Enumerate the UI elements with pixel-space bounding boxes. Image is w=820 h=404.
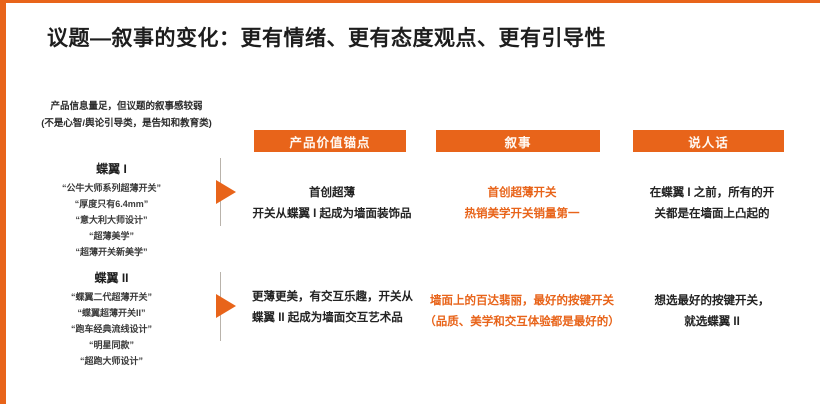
cell-line: 想选最好的按键开关， (628, 291, 796, 312)
product-quote-list: “蝶翼二代超薄开关” “蝶翼超薄开关II” “跑车经典流线设计” “明星同款” … (24, 289, 199, 369)
cell-line: 更薄更美，有交互乐趣，开关从蝶翼 II 起成为墙面交互艺术品 (252, 287, 418, 330)
column-header-product-value-anchor: 产品价值锚点 (254, 130, 406, 152)
list-item: “超跑大师设计” (24, 353, 199, 369)
list-item: “意大利大师设计” (24, 212, 199, 228)
list-item: “蝶翼超薄开关II” (24, 305, 199, 321)
cell-product-value-anchor: 更薄更美，有交互乐趣，开关从蝶翼 II 起成为墙面交互艺术品 (252, 287, 418, 330)
list-item: “跑车经典流线设计” (24, 321, 199, 337)
column-header-narrative: 叙事 (436, 130, 600, 152)
page-title: 议题—叙事的变化：更有情绪、更有态度观点、更有引导性 (47, 22, 606, 52)
intro-caption: 产品信息量足，但议题的叙事感较弱 (不是心智/舆论引导类，是告知和教育类) (24, 99, 229, 132)
product-quote-list: “公牛大师系列超薄开关” “厚度只有6.4mm” “意大利大师设计” “超薄美学… (24, 180, 199, 260)
cell-line: 墙面上的百达翡丽，最好的按键开关 (424, 291, 620, 312)
table-row: 蝶翼 II “蝶翼二代超薄开关” “蝶翼超薄开关II” “跑车经典流线设计” “… (0, 265, 820, 375)
cell-narrative: 墙面上的百达翡丽，最好的按键开关 （品质、美学和交互体验都是最好的） (424, 291, 620, 334)
cell-plain-speech: 想选最好的按键开关， 就选蝶翼 II (628, 291, 796, 334)
arrow-right-icon (216, 180, 236, 204)
slide-canvas: 议题—叙事的变化：更有情绪、更有态度观点、更有引导性 产品信息量足，但议题的叙事… (0, 0, 820, 404)
cell-line: 在蝶翼 I 之前，所有的开 (628, 183, 796, 204)
list-item: “厚度只有6.4mm” (24, 196, 199, 212)
arrow-right-icon (216, 294, 236, 318)
column-header-plain-speech: 说人话 (633, 130, 784, 152)
cell-line: 关都是在墙面上凸起的 (628, 204, 796, 225)
cell-line: 热销美学开关销量第一 (424, 204, 620, 225)
list-item: “明星同款” (24, 337, 199, 353)
intro-line-1: 产品信息量足，但议题的叙事感较弱 (24, 99, 229, 116)
list-item: “公牛大师系列超薄开关” (24, 180, 199, 196)
cell-plain-speech: 在蝶翼 I 之前，所有的开 关都是在墙面上凸起的 (628, 183, 796, 226)
list-item: “超薄开关新美学” (24, 244, 199, 260)
cell-product-value-anchor: 首创超薄 开关从蝶翼 I 起成为墙面装饰品 (248, 183, 416, 226)
cell-narrative: 首创超薄开关 热销美学开关销量第一 (424, 183, 620, 226)
product-name: 蝶翼 I (24, 160, 199, 177)
cell-line: 就选蝶翼 II (628, 312, 796, 333)
table-row: 蝶翼 I “公牛大师系列超薄开关” “厚度只有6.4mm” “意大利大师设计” … (0, 155, 820, 250)
cell-line: （品质、美学和交互体验都是最好的） (424, 312, 620, 333)
cell-line: 首创超薄 (248, 183, 416, 204)
list-item: “超薄美学” (24, 228, 199, 244)
intro-line-2: (不是心智/舆论引导类，是告知和教育类) (24, 116, 229, 133)
top-accent-bar (0, 0, 820, 3)
cell-line: 开关从蝶翼 I 起成为墙面装饰品 (248, 204, 416, 225)
product-name: 蝶翼 II (24, 269, 199, 286)
cell-line: 首创超薄开关 (424, 183, 620, 204)
list-item: “蝶翼二代超薄开关” (24, 289, 199, 305)
